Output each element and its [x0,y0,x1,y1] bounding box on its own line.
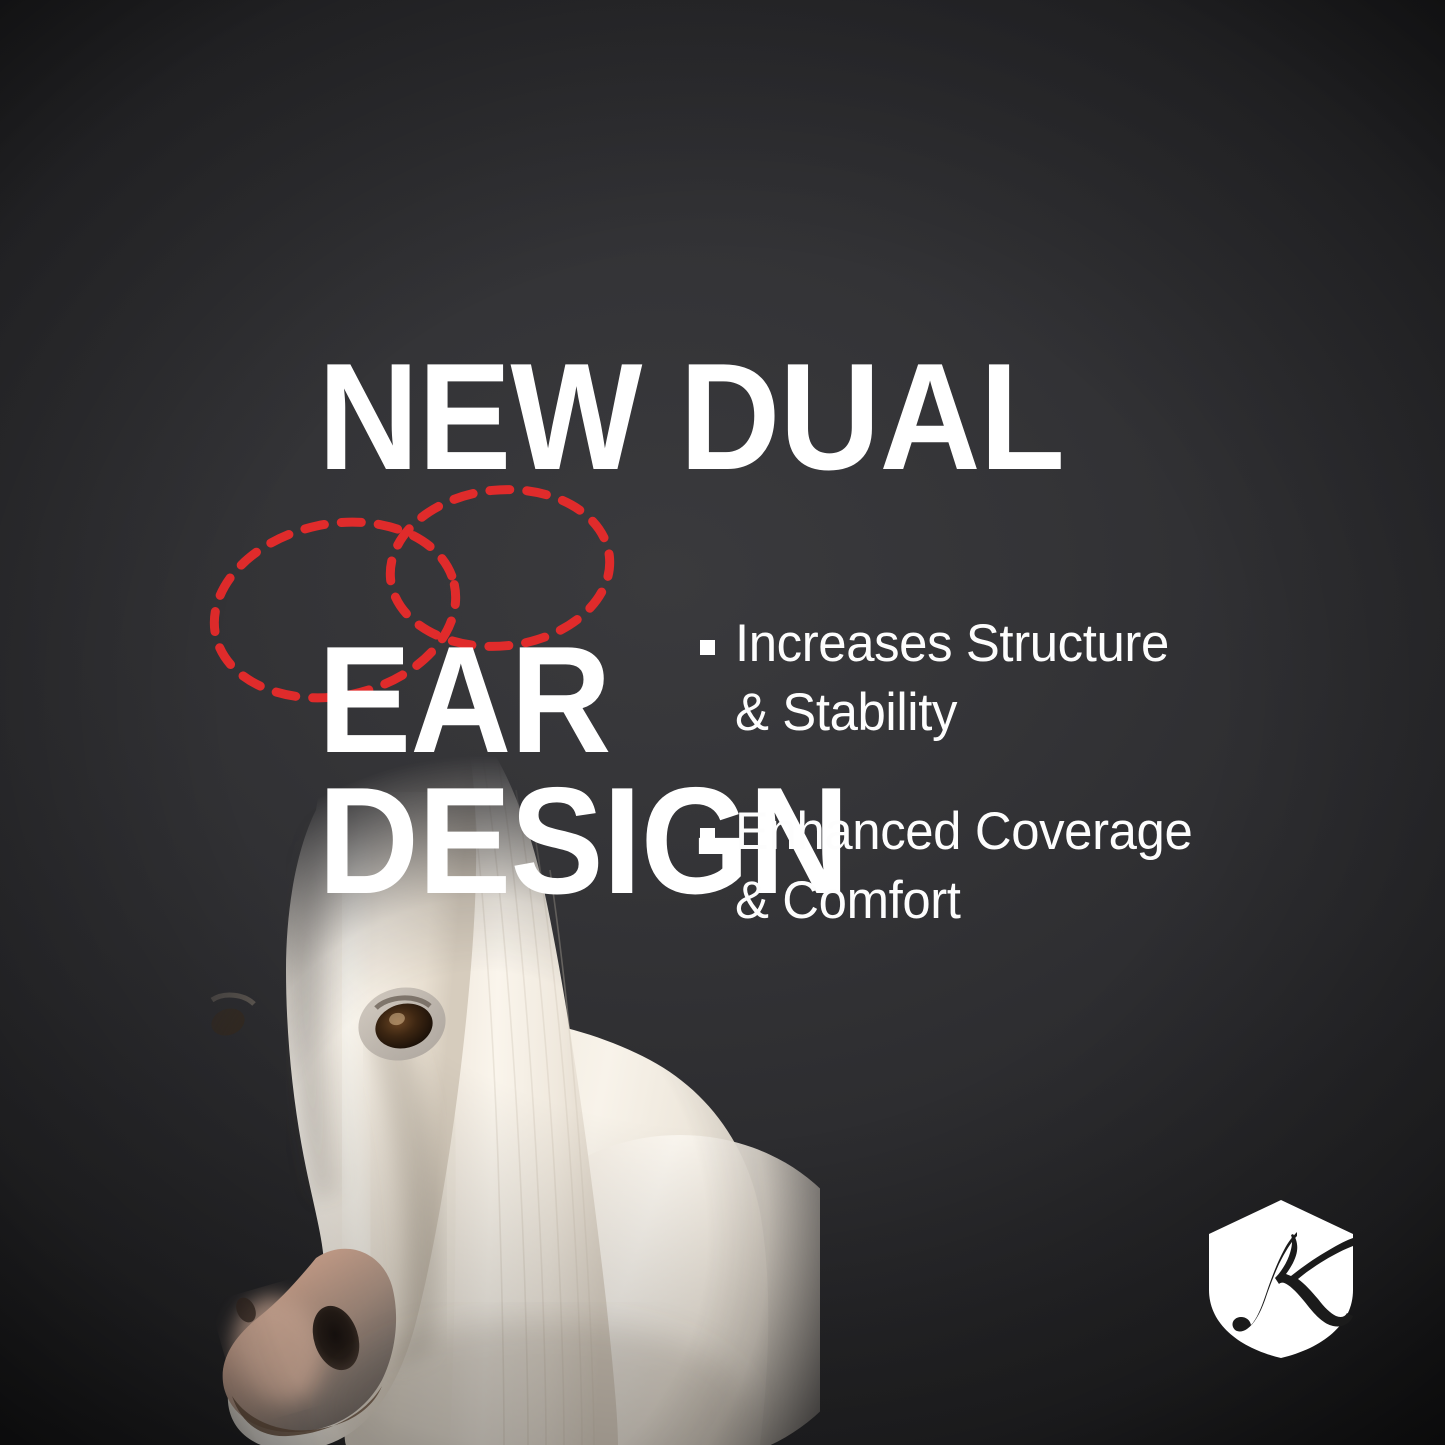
list-item-label: Increases Structure & Stability [735,610,1169,748]
brand-logo [1205,1198,1357,1360]
poster-canvas: NEW DUAL EAR DESIGN Increases Structure … [0,0,1445,1445]
list-item: Increases Structure & Stability [700,610,1360,748]
square-bullet-icon [700,828,715,843]
headline-line-1: NEW DUAL [318,347,1146,488]
square-bullet-icon [700,640,715,655]
list-item-label: Enhanced Coverage & Comfort [735,798,1192,936]
shield-logo-icon [1205,1198,1357,1360]
list-item: Enhanced Coverage & Comfort [700,798,1360,936]
feature-list: Increases Structure & Stability Enhanced… [700,610,1360,986]
